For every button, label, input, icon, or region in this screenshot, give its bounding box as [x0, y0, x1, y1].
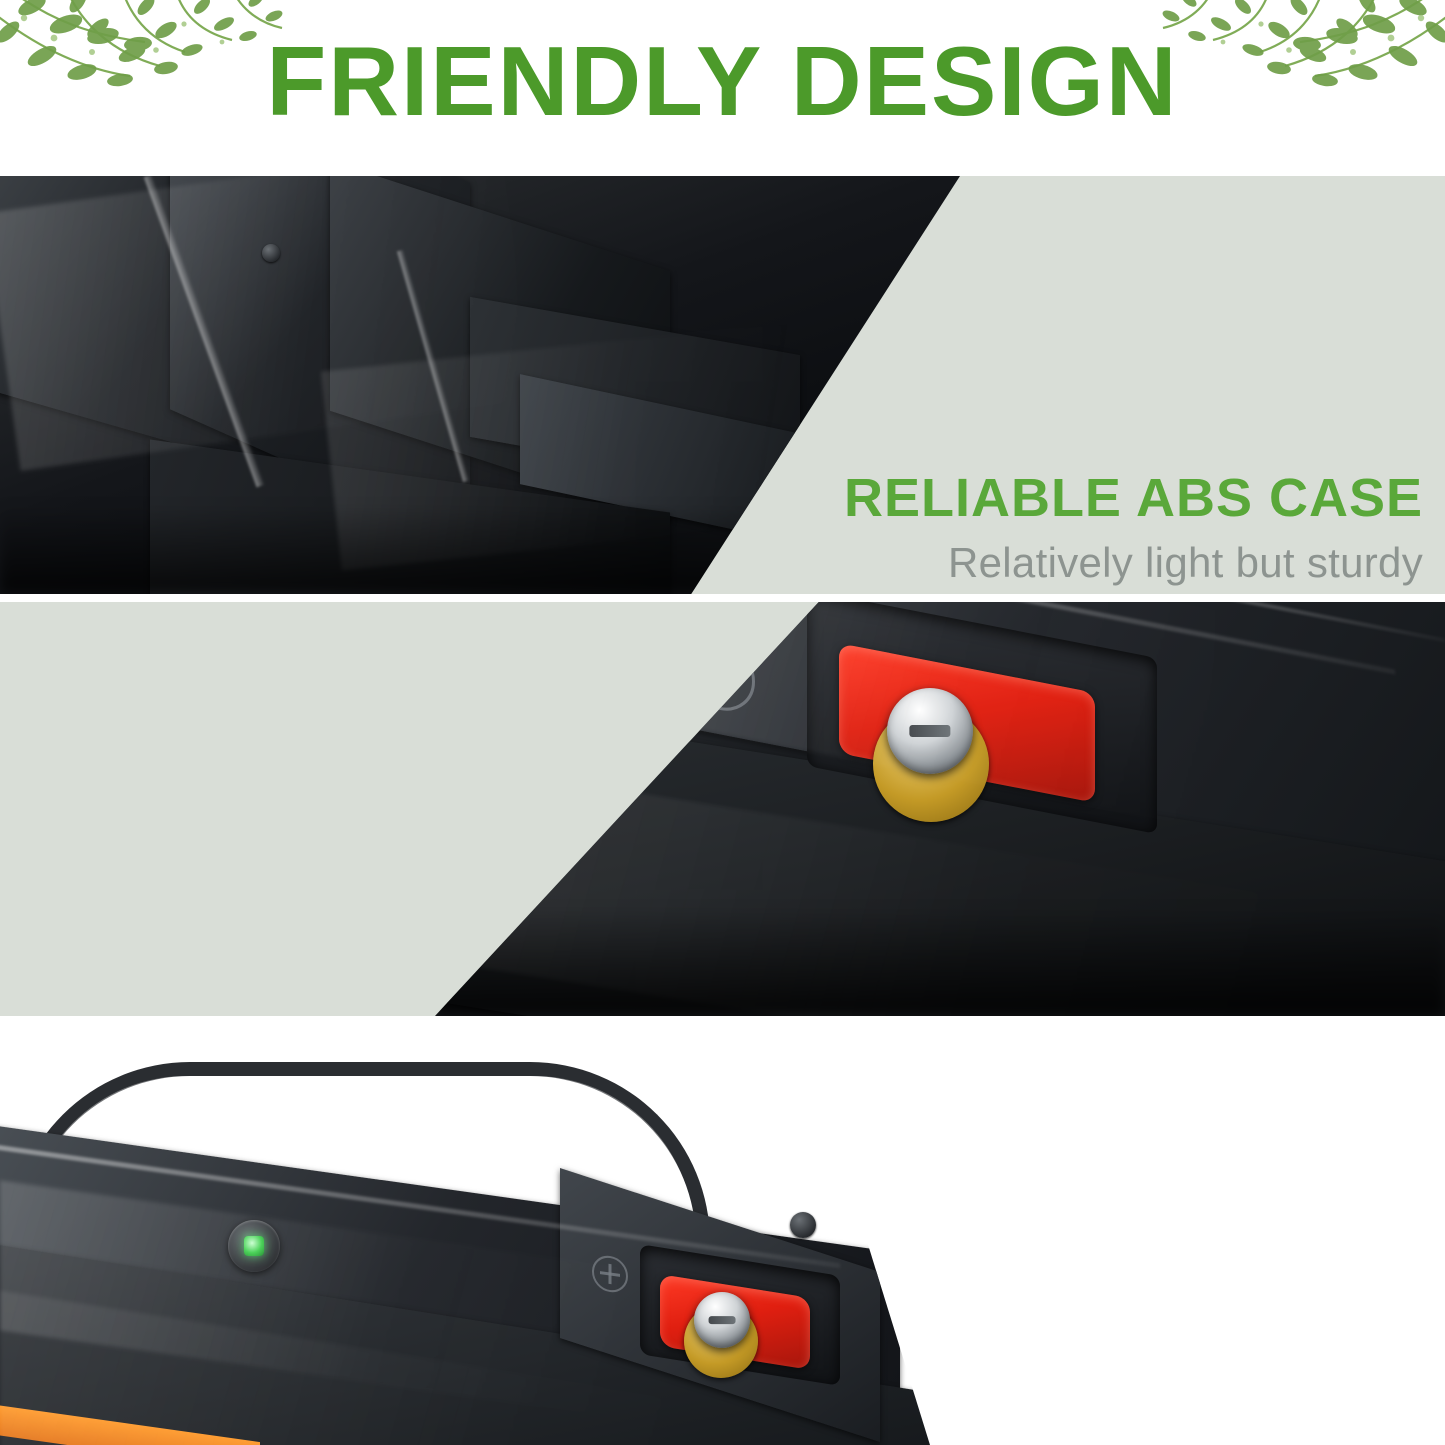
- photo-bottom-shadow: [435, 906, 1445, 1016]
- feature-panel-hand-strap: HAND STRAP DESIGN Portable to carry: [0, 1024, 1445, 1445]
- feature-title: RELIABLE ABS CASE: [844, 468, 1423, 528]
- case-screw: [262, 244, 280, 262]
- page-title: FRIENDLY DESIGN: [0, 28, 1445, 136]
- header-banner: FRIENDLY DESIGN: [0, 0, 1445, 176]
- product-photo-hand-strap: [0, 1024, 930, 1445]
- terminal-m8-bolt: [694, 1292, 750, 1348]
- case-screw: [790, 1212, 816, 1238]
- feature-text-abs-case: RELIABLE ABS CASE Relatively light but s…: [844, 468, 1423, 589]
- feature-panel-m8-terminal: M8 TYPE TERMINAL High conductivity: [0, 602, 1445, 1016]
- panel-divider: [0, 594, 1445, 602]
- feature-subtitle: Relatively light but sturdy: [844, 538, 1423, 588]
- panel-divider: [0, 1016, 1445, 1024]
- feature-panel-abs-case: RELIABLE ABS CASE Relatively light but s…: [0, 176, 1445, 594]
